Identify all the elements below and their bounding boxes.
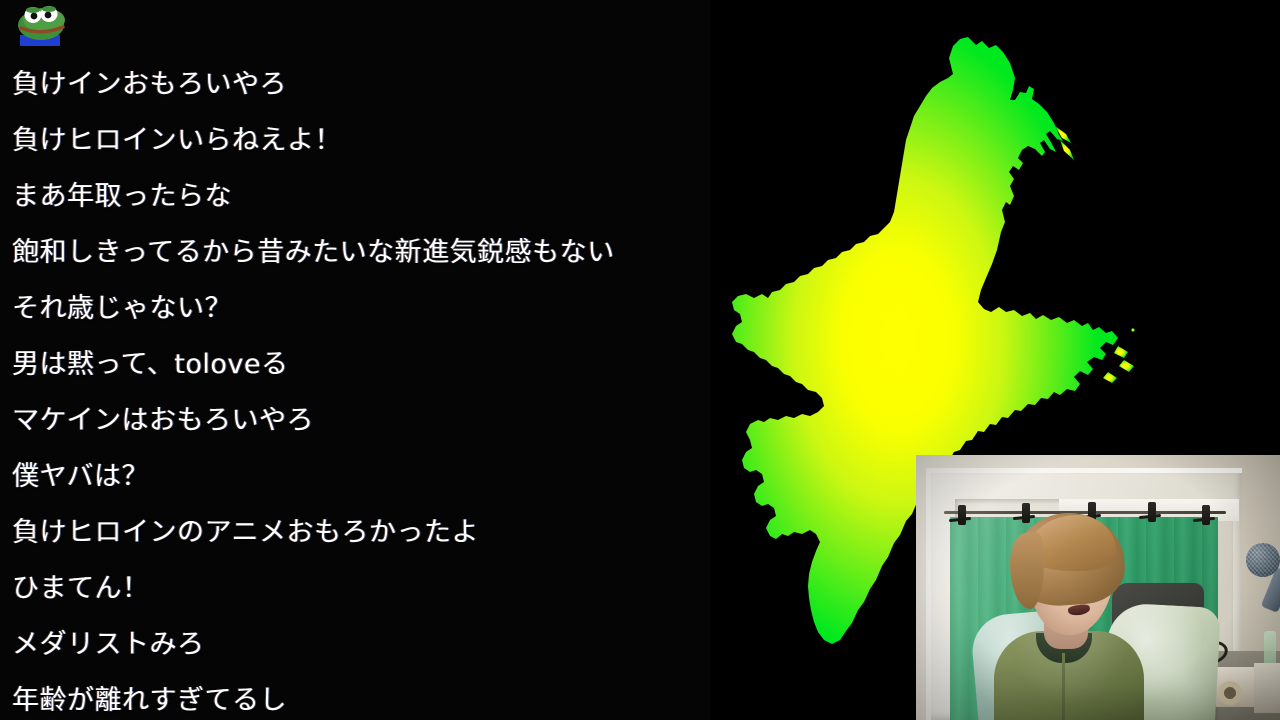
chat-panel: 負けインおもろいやろ 負けヒロインいらねえよ！ まあ年取ったらな 飽和しきってる… bbox=[0, 0, 710, 720]
streamer-webcam-feed[interactable] bbox=[916, 455, 1280, 720]
chat-message[interactable]: 年齢が離れすぎてるし bbox=[0, 672, 710, 720]
microphone-head bbox=[1246, 543, 1280, 577]
chat-message[interactable]: マケインはおもろいやろ bbox=[0, 392, 710, 448]
tape-roll bbox=[1218, 681, 1242, 705]
chat-message[interactable]: 負けヒロインのアニメおもろかったよ bbox=[0, 504, 710, 560]
curtain-clip bbox=[1022, 503, 1030, 523]
jacket-zipper bbox=[1062, 653, 1065, 720]
shelf-box bbox=[1254, 663, 1280, 713]
chat-message[interactable]: 飽和しきってるから昔みたいな新進気鋭感もない bbox=[0, 224, 710, 280]
chat-message[interactable]: 負けヒロインいらねえよ！ bbox=[0, 112, 710, 168]
chat-message-text: ひまてん！ bbox=[12, 575, 150, 602]
chat-spacer-row bbox=[0, 0, 710, 56]
chat-message-text: 負けインおもろいやろ bbox=[12, 71, 287, 98]
microphone-mesh bbox=[1246, 543, 1280, 577]
chat-message[interactable]: メダリストみろ bbox=[0, 616, 710, 672]
curtain-clip bbox=[1148, 502, 1156, 522]
chat-message-text: マケインはおもろいやろ bbox=[12, 407, 314, 434]
chat-message-text: 僕ヤバは？ bbox=[12, 463, 149, 490]
chat-message[interactable]: まあ年取ったらな bbox=[0, 168, 710, 224]
chat-message[interactable]: 男は黙って、toloveる bbox=[0, 336, 710, 392]
chat-message[interactable]: 僕ヤバは？ bbox=[0, 448, 710, 504]
chat-message[interactable]: ひまてん！ bbox=[0, 560, 710, 616]
chat-message-text: 飽和しきってるから昔みたいな新進気鋭感もない bbox=[12, 239, 615, 266]
bottle bbox=[1264, 631, 1276, 665]
curtain-clip bbox=[958, 505, 966, 525]
curtain-clip bbox=[1202, 505, 1210, 525]
chat-message-text: 負けヒロインのアニメおもろかったよ bbox=[12, 519, 479, 546]
curtain-rod bbox=[944, 511, 1226, 514]
chat-message-text: 男は黙って、toloveる bbox=[12, 351, 289, 378]
chat-message[interactable]: 負けインおもろいやろ bbox=[0, 56, 710, 112]
chat-message-text: メダリストみろ bbox=[12, 631, 205, 658]
chat-message-text: まあ年取ったらな bbox=[12, 183, 232, 210]
chat-message-text: 負けヒロインいらねえよ！ bbox=[12, 127, 342, 154]
chat-message[interactable]: それ歳じゃない？ bbox=[0, 280, 710, 336]
webcam-scene bbox=[916, 455, 1280, 720]
chat-message-text: それ歳じゃない？ bbox=[12, 295, 232, 322]
chat-message-list[interactable]: 負けインおもろいやろ 負けヒロインいらねえよ！ まあ年取ったらな 飽和しきってる… bbox=[0, 0, 710, 720]
chat-message-text: 年齢が離れすぎてるし bbox=[12, 687, 287, 714]
stream-canvas: 負けインおもろいやろ 負けヒロインいらねえよ！ まあ年取ったらな 飽和しきってる… bbox=[0, 0, 1280, 720]
